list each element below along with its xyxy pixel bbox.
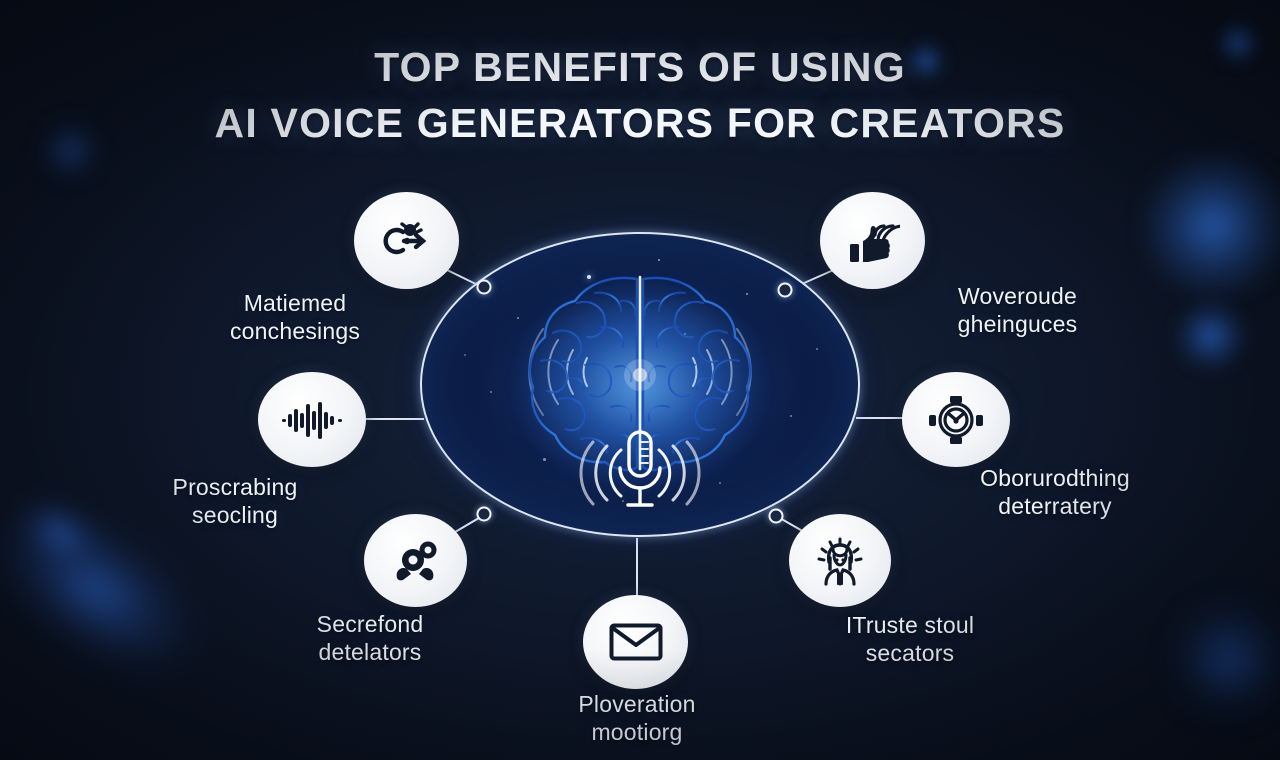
orbit-ring [420,232,860,537]
connector-node [778,282,793,297]
benefit-label-top-right: Woveroude gheinguces [910,282,1125,338]
benefit-label-mid-left: Proscrabing seocling [130,473,340,529]
target-arrow-icon [382,217,432,265]
benefit-icon-bottom-right[interactable] [789,514,891,607]
benefit-icon-bottom-center[interactable] [583,595,688,689]
benefit-icon-top-right[interactable] [820,192,925,289]
benefit-label-top-left: Matiemed conchesings [190,289,400,345]
infographic-canvas: TOP BENEFITS OF USING AI VOICE GENERATOR… [0,0,1280,760]
central-hub [420,232,860,537]
person-idea-icon [813,536,867,586]
connector-node [476,507,491,522]
benefit-label-bottom-left: Secrefond detelators [265,610,475,666]
benefit-icon-mid-right[interactable] [902,372,1010,467]
connector-node [769,508,784,523]
benefit-icon-mid-left[interactable] [258,372,366,467]
people-network-icon [389,538,443,584]
clock-watch-icon [927,394,985,446]
connector-node [476,279,491,294]
thumbs-up-signal-icon [846,216,900,266]
benefit-icon-bottom-left[interactable] [364,514,467,607]
benefit-label-bottom-center: Ploveration mootiorg [530,690,744,746]
benefit-label-mid-right: Oborurodthing deterratery [940,464,1170,520]
audio-waveform-icon [281,400,343,440]
envelope-icon [609,622,663,662]
benefit-label-bottom-right: ITruste stoul secators [805,611,1015,667]
benefit-icon-top-left[interactable] [354,192,459,289]
